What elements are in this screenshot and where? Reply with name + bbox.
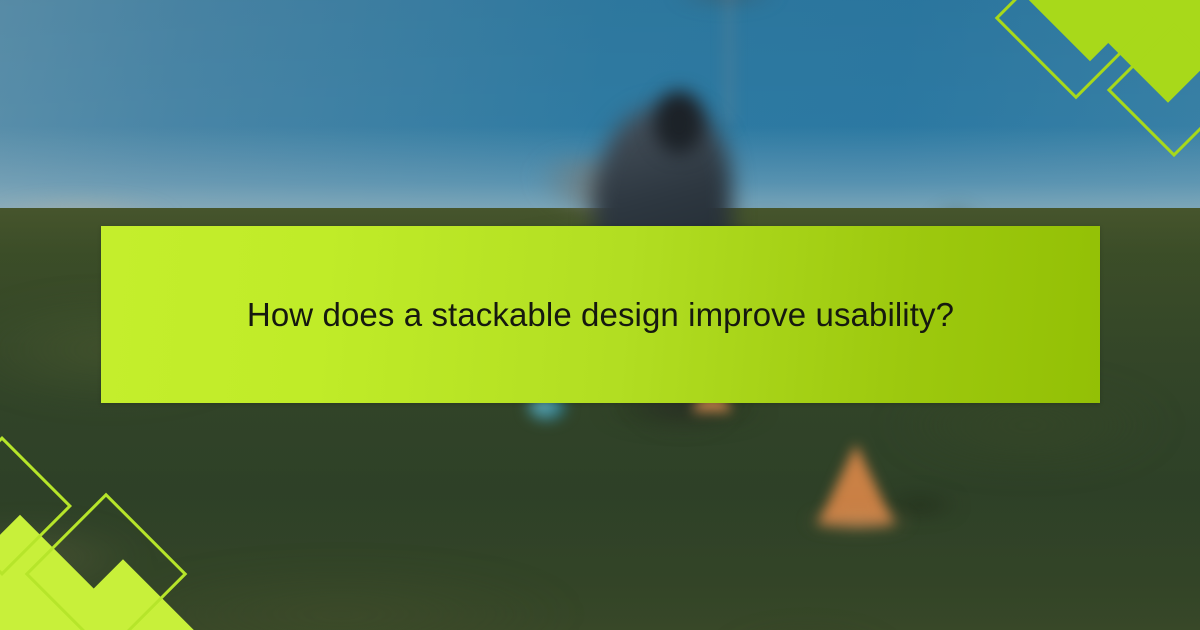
headline-text: How does a stackable design improve usab… bbox=[177, 288, 1024, 341]
headline-banner: How does a stackable design improve usab… bbox=[101, 226, 1100, 403]
training-cone-base bbox=[806, 512, 910, 530]
question-card: How does a stackable design improve usab… bbox=[0, 0, 1200, 630]
goal-post-pole bbox=[726, 0, 732, 126]
